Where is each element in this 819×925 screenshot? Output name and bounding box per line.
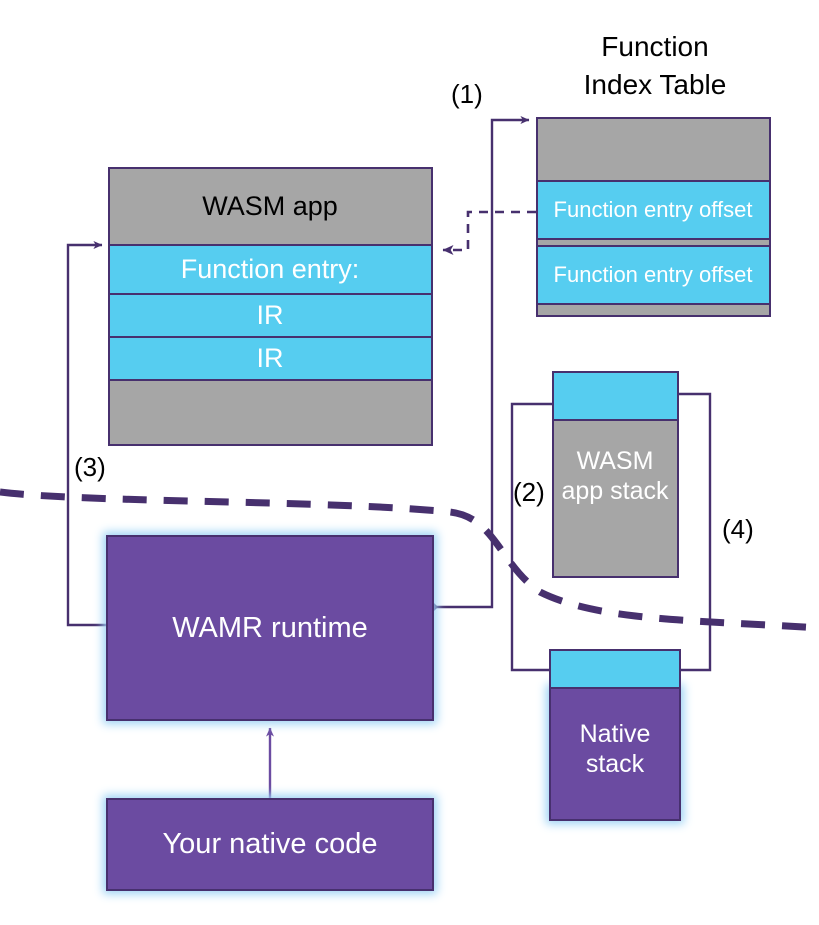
wasm-app-box[interactable]: WASM app Function entry: IR IR [108, 167, 433, 442]
native-stack-box[interactable]: Native stack [549, 649, 681, 821]
step-label-2: (2) [513, 477, 545, 508]
wasm-app-stack-label-line-2: app stack [554, 477, 676, 507]
wasm-app-ir-row[interactable]: IR [108, 293, 433, 338]
wasm-app-ir-row[interactable]: IR [108, 336, 433, 381]
wasm-app-stack-box[interactable]: WASM app stack [552, 371, 679, 578]
function-index-table-title: Function Index Table [540, 28, 770, 104]
wasm-app-header: WASM app [108, 167, 433, 247]
step-label-3: (3) [74, 452, 106, 483]
diagram-canvas: Function Index Table Function entry offs… [0, 0, 819, 925]
wasm-app-function-entry[interactable]: Function entry: [108, 244, 433, 295]
your-native-code-box[interactable]: Your native code [106, 798, 434, 891]
fit-title-line-2: Index Table [540, 66, 770, 104]
native-stack-label-line-2: stack [549, 749, 681, 779]
native-stack-top-frame [549, 649, 681, 689]
wasm-app-stack-top-frame [552, 371, 679, 421]
fit-row[interactable]: Function entry offset [536, 180, 771, 240]
function-index-table[interactable]: Function entry offset Function entry off… [536, 117, 771, 317]
wasm-app-footer-filler [108, 379, 433, 446]
native-stack-label: Native stack [549, 719, 681, 779]
wasm-app-stack-label: WASM app stack [554, 447, 676, 506]
step-label-1: (1) [451, 79, 483, 110]
wamr-runtime-box[interactable]: WAMR runtime [106, 535, 434, 721]
step-label-4: (4) [722, 514, 754, 545]
connector-step-1 [426, 120, 529, 613]
fit-title-line-1: Function [540, 28, 770, 66]
native-stack-label-line-1: Native [549, 719, 681, 749]
connector-step-3 [68, 245, 106, 625]
wasm-app-stack-label-line-1: WASM [554, 447, 676, 477]
fit-row[interactable]: Function entry offset [536, 245, 771, 305]
